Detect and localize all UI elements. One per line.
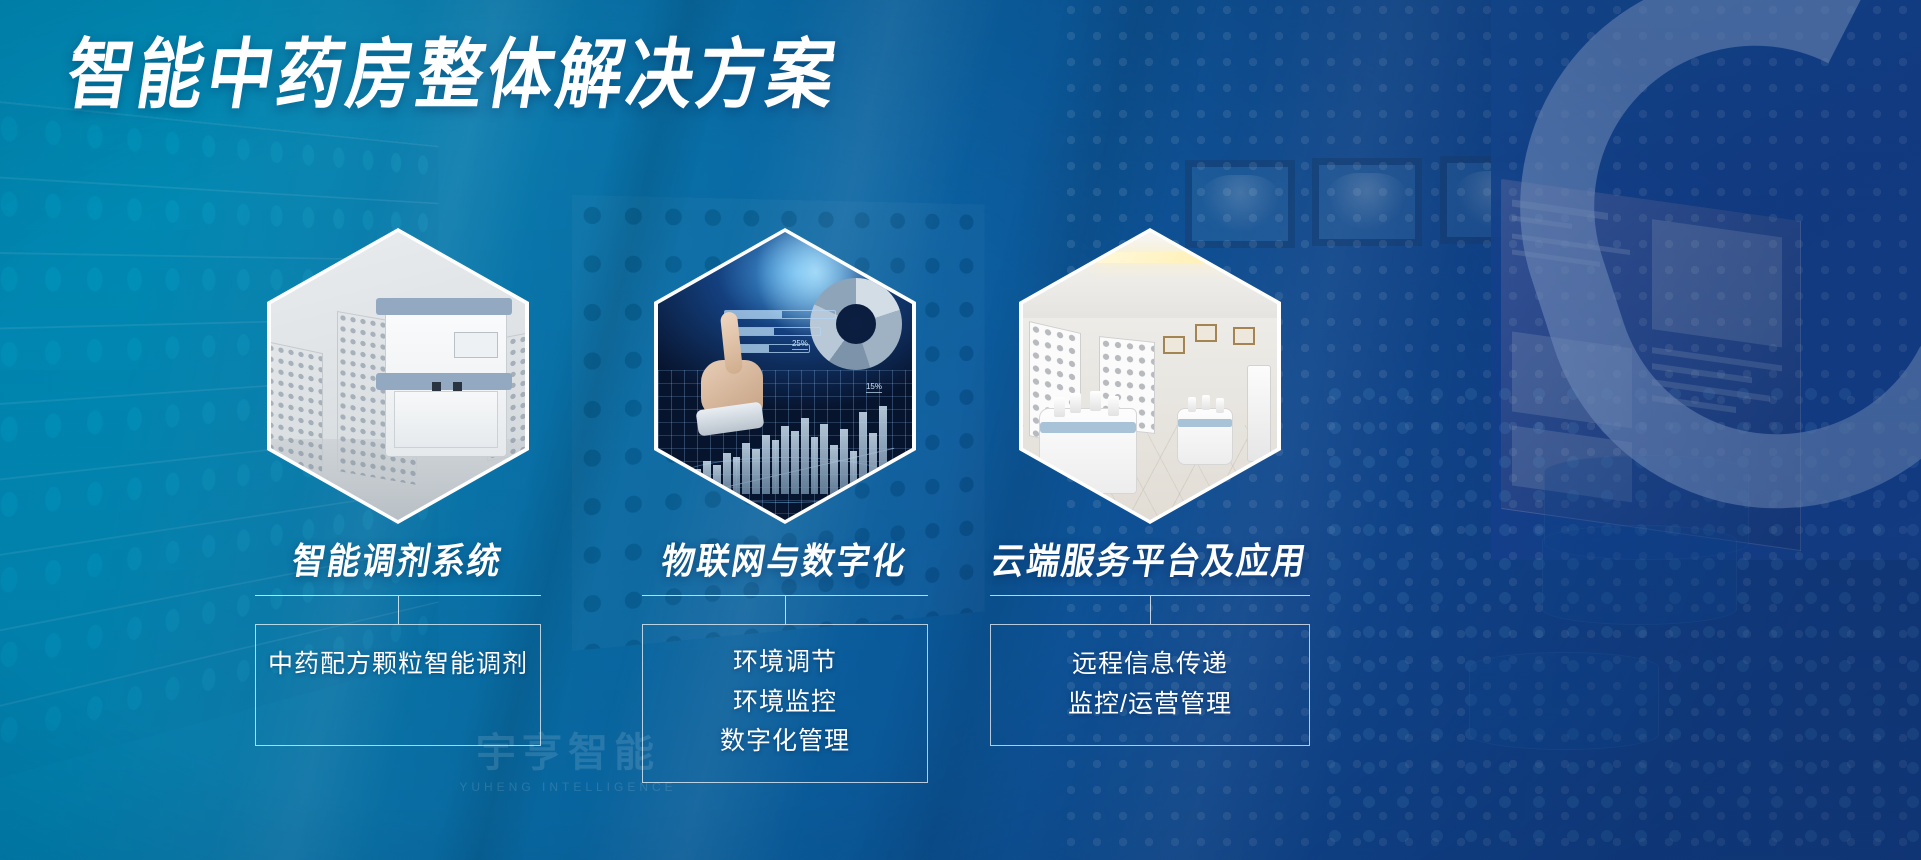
hexagon-frame-2[interactable]: 20% 25% 15%: [654, 228, 916, 524]
hexagon-frame-1[interactable]: [267, 228, 529, 524]
hexagon-inner-3: [1023, 232, 1277, 520]
info-box-1: 中药配方颗粒智能调剂: [255, 624, 541, 746]
info-line: 监控/运营管理: [1068, 685, 1232, 725]
column-label-3: 云端服务平台及应用: [936, 532, 1364, 585]
smart-dispensing-machine-photo: [271, 232, 525, 520]
column-label-2: 物联网与数字化: [571, 532, 999, 585]
hexagon-frame-3[interactable]: [1019, 228, 1281, 524]
connector-stem-3: [1150, 596, 1151, 624]
cloud-pharmacy-interior-photo: [1023, 232, 1277, 520]
donut-pct-15: 15%: [866, 382, 882, 393]
info-line: 环境调节: [653, 643, 917, 683]
info-line: 数字化管理: [653, 722, 917, 762]
column-cloud-platform: 云端服务平台及应用 远程信息传递 监控/运营管理: [940, 228, 1360, 746]
banner-root: 宇亨智能 YUHENG INTELLIGENCE 智能中药房整体解决方案: [0, 0, 1921, 860]
connector-stem-2: [785, 596, 786, 624]
column-label-1: 智能调剂系统: [184, 532, 612, 585]
info-line: 远程信息传递: [1068, 645, 1232, 685]
donut-chart-icon: [810, 278, 902, 370]
info-box-2: 环境调节 环境监控 数字化管理: [642, 624, 928, 783]
info-line: 中药配方颗粒智能调剂: [268, 645, 528, 685]
donut-pct-20: 20%: [872, 258, 888, 269]
column-iot-digital: 20% 25% 15% 物联网与数字化 环境调节 环境监控: [575, 228, 995, 783]
column-smart-dispensing: 智能调剂系统 中药配方颗粒智能调剂: [188, 228, 608, 746]
pointing-hand-icon: [701, 318, 769, 418]
info-line: 环境监控: [653, 683, 917, 723]
hexagon-inner-1: [271, 232, 525, 520]
connector-stem-1: [398, 596, 399, 624]
page-title: 智能中药房整体解决方案: [62, 36, 844, 113]
iot-data-dashboard-photo: 20% 25% 15%: [658, 232, 912, 520]
info-box-3: 远程信息传递 监控/运营管理: [990, 624, 1310, 746]
hexagon-inner-2: 20% 25% 15%: [658, 232, 912, 520]
